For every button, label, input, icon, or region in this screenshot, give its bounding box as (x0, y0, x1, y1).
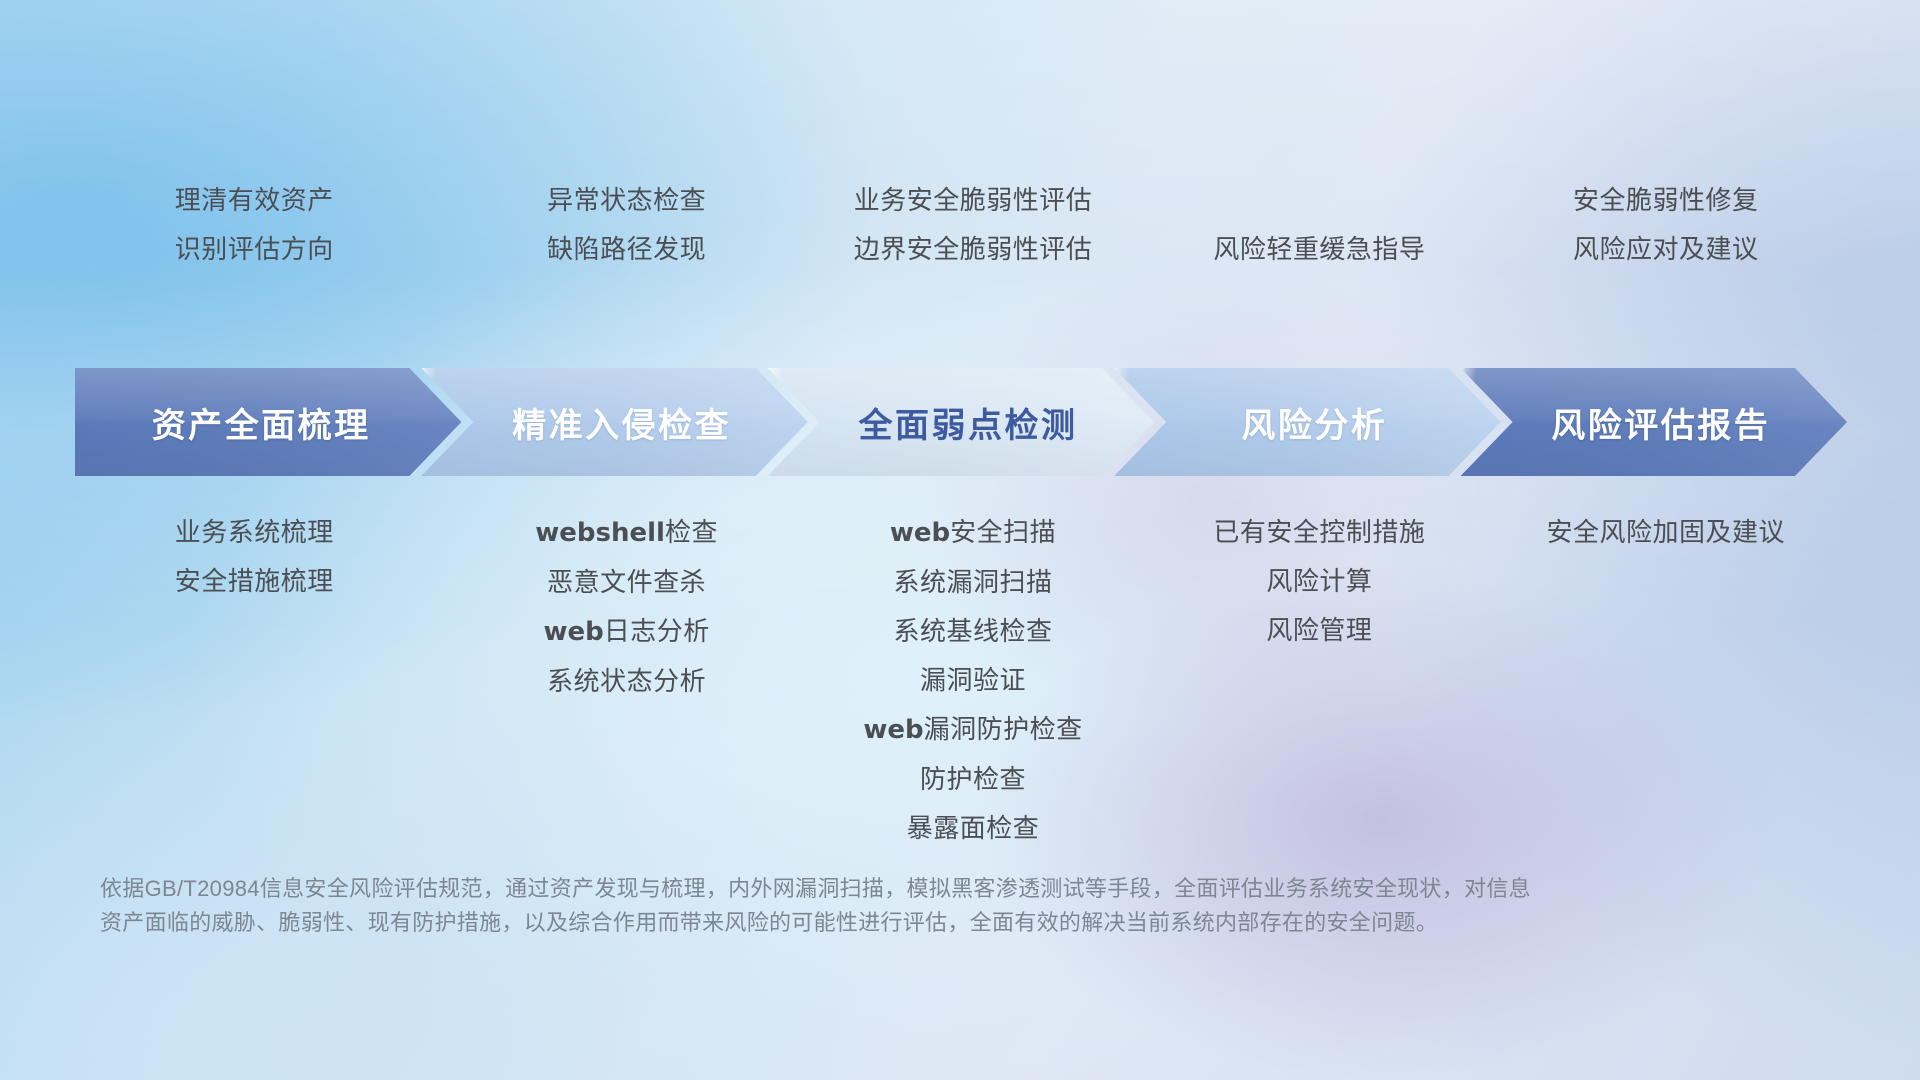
stage-arrow-label-4: 风险分析 (1241, 398, 1387, 447)
process-diagram: 理清有效资产识别评估方向异常状态检查缺陷路径发现业务安全脆弱性评估边界安全脆弱性… (0, 0, 1920, 1080)
bottom-label-item: 风险管理 (1059, 606, 1579, 655)
latin-token: webshell (535, 518, 665, 548)
bottom-label-item: 安全风险加固及建议 (1406, 508, 1920, 557)
top-label-item: 风险应对及建议 (1406, 225, 1920, 274)
bottom-label-item: 风险计算 (1059, 557, 1579, 606)
footer-line-1: 依据GB/T20984信息安全风险评估规范，通过资产发现与梳理，内外网漏洞扫描，… (100, 872, 1620, 906)
stage-arrow-4[interactable]: 风险分析 (1114, 368, 1500, 476)
top-labels-stage-5: 安全脆弱性修复风险应对及建议 (1406, 176, 1920, 274)
stage-arrow-label-5: 风险评估报告 (1551, 398, 1770, 447)
top-label-item: 安全脆弱性修复 (1406, 176, 1920, 225)
footer-description: 依据GB/T20984信息安全风险评估规范，通过资产发现与梳理，内外网漏洞扫描，… (100, 872, 1620, 940)
bottom-label-item: 暴露面检查 (713, 804, 1233, 853)
bottom-labels-stage-5: 安全风险加固及建议 (1406, 508, 1920, 557)
bottom-label-item: 漏洞验证 (713, 656, 1233, 705)
stage-arrow-1[interactable]: 资产全面梳理 (75, 368, 461, 476)
stage-arrow-band: 资产全面梳理精准入侵检查全面弱点检测风险分析风险评估报告 (0, 368, 1920, 476)
footer-line-2: 资产面临的威胁、脆弱性、现有防护措施，以及综合作用而带来风险的可能性进行评估，全… (100, 906, 1620, 940)
stage-arrow-5[interactable]: 风险评估报告 (1461, 368, 1847, 476)
stage-arrow-label-1: 资产全面梳理 (152, 398, 371, 447)
stage-arrow-2[interactable]: 精准入侵检查 (421, 368, 807, 476)
stage-arrow-3[interactable]: 全面弱点检测 (768, 368, 1154, 476)
stage-arrow-label-2: 精准入侵检查 (512, 398, 731, 447)
latin-token: web (543, 617, 603, 647)
latin-token: web (890, 518, 950, 548)
bottom-label-item: web漏洞防护检查 (713, 705, 1233, 755)
stage-arrow-label-3: 全面弱点检测 (858, 398, 1077, 447)
top-label-item: 业务安全脆弱性评估 (713, 176, 1233, 225)
latin-token: web (863, 715, 923, 745)
bottom-label-item: 防护检查 (713, 755, 1233, 804)
